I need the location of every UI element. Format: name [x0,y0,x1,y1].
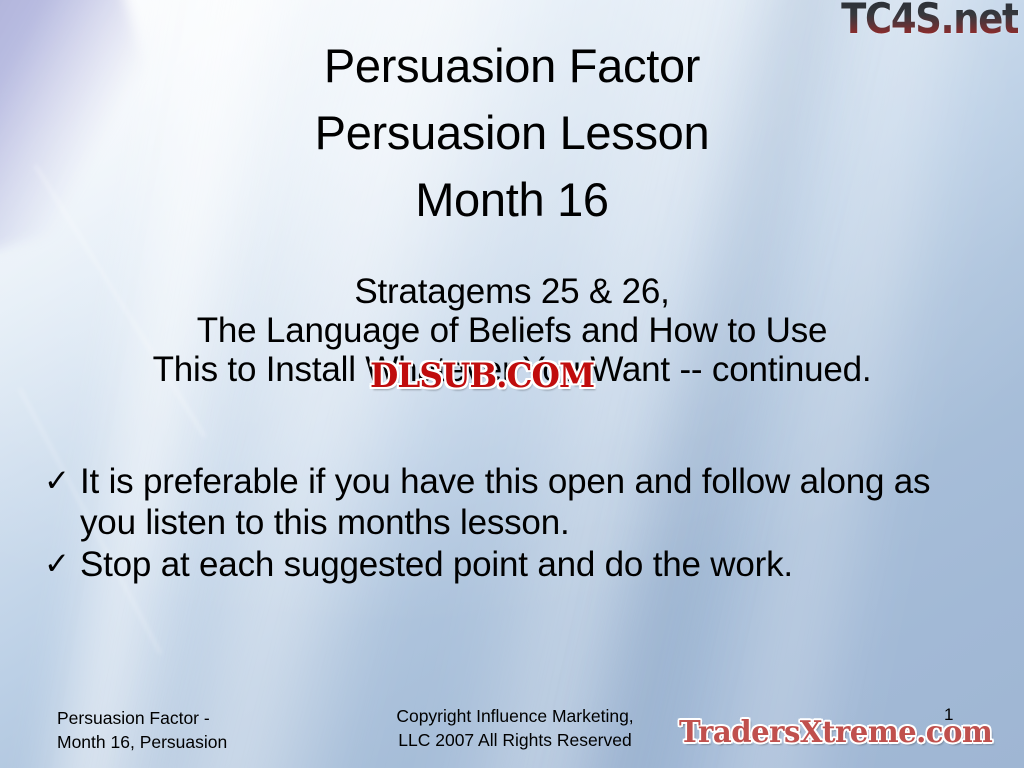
copyright-line-1: Copyright Influence Marketing, [370,704,660,728]
presentation-slide: TC4S.net Persuasion Factor Persuasion Le… [0,0,1024,768]
bullet-list: ✓ It is preferable if you have this open… [44,462,974,588]
title-line-2: Persuasion Lesson [0,109,1024,156]
list-item-label: It is preferable if you have this open a… [80,462,974,543]
list-item-label: Stop at each suggested point and do the … [80,545,974,586]
tradersxtreme-logo: TradersXtreme.com [679,718,992,748]
slide-content: TC4S.net Persuasion Factor Persuasion Le… [0,0,1024,768]
title-line-3: Month 16 [0,176,1024,223]
checkmark-icon: ✓ [44,545,80,583]
subtitle-line-2: The Language of Beliefs and How to Use [0,311,1024,350]
list-item: ✓ Stop at each suggested point and do th… [44,545,974,586]
footer-left: Persuasion Factor - Month 16, Persuasion [57,706,227,754]
title-line-1: Persuasion Factor [0,42,1024,89]
checkmark-icon: ✓ [44,462,80,500]
dlsub-watermark: DLSUB.COM [370,359,594,393]
footer-copyright: Copyright Influence Marketing, LLC 2007 … [370,704,660,752]
slide-title: Persuasion Factor Persuasion Lesson Mont… [0,42,1024,243]
tc4s-logo: TC4S.net [841,0,1018,40]
list-item: ✓ It is preferable if you have this open… [44,462,974,543]
footer-left-line-2: Month 16, Persuasion [57,730,227,754]
copyright-line-2: LLC 2007 All Rights Reserved [370,728,660,752]
subtitle-line-1: Stratagems 25 & 26, [0,272,1024,311]
footer-left-line-1: Persuasion Factor - [57,706,227,730]
